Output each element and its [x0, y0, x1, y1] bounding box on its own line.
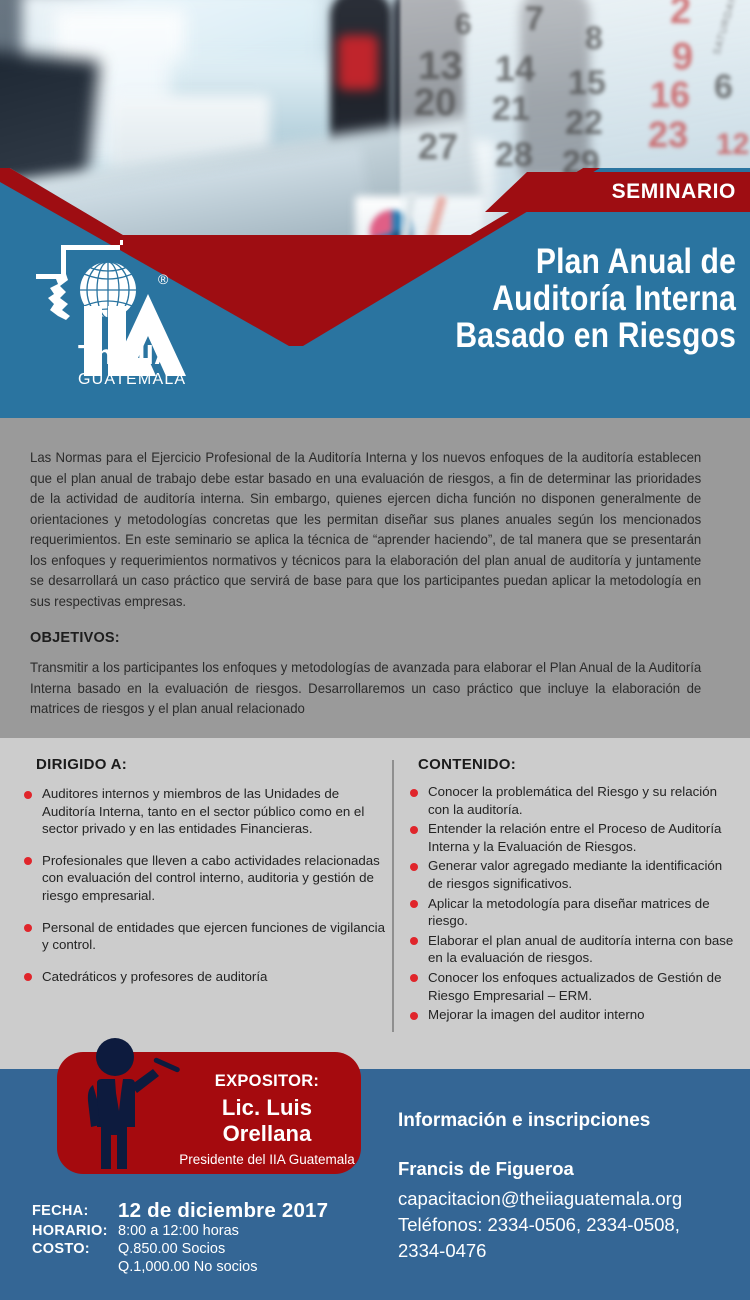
seminario-label: SEMINARIO — [612, 180, 736, 204]
list-item-text: Elaborar el plan anual de auditoría inte… — [428, 933, 733, 966]
title-line-1: Plan Anual de — [366, 243, 736, 280]
bullet-icon — [410, 826, 418, 834]
horario-value: 8:00 a 12:00 horas — [118, 1223, 239, 1239]
fecha-label: FECHA: — [32, 1203, 118, 1219]
horario-label: HORARIO: — [32, 1223, 118, 1239]
contenido-heading: CONTENIDO: — [408, 738, 738, 773]
list-item: Entender la relación entre el Proceso de… — [408, 820, 738, 855]
list-item: Aplicar la metodología para diseñar matr… — [408, 895, 738, 930]
intro-section: Las Normas para el Ejercicio Profesional… — [0, 418, 750, 738]
bullet-icon — [410, 974, 418, 982]
list-item-text: Conocer la problemática del Riesgo y su … — [428, 784, 717, 817]
iia-logo: ® The IIA GUATEMALA — [28, 232, 208, 400]
presenter-icon — [75, 1035, 183, 1175]
contact-name: Francis de Figueroa — [398, 1158, 743, 1180]
list-item-text: Aplicar la metodología para diseñar matr… — [428, 896, 710, 929]
list-item: Generar valor agregado mediante la ident… — [408, 857, 738, 892]
fecha-row: FECHA: 12 de diciembre 2017 — [32, 1197, 382, 1221]
bullet-icon — [24, 973, 32, 981]
expositor-role: Presidente del IIA Guatemala — [177, 1152, 357, 1167]
bullet-icon — [410, 900, 418, 908]
dirigido-list: Auditores internos y miembros de las Uni… — [22, 785, 392, 985]
bullet-icon — [24, 924, 32, 932]
list-item-text: Personal de entidades que ejercen funcio… — [42, 920, 385, 953]
flyer-title: Plan Anual de Auditoría Interna Basado e… — [306, 243, 736, 354]
objetivos-heading: OBJETIVOS: — [30, 630, 120, 646]
list-item-text: Catedráticos y profesores de auditoría — [42, 969, 267, 984]
bullet-icon — [410, 1012, 418, 1020]
list-item-text: Conocer los enfoques actualizados de Ges… — [428, 970, 721, 1003]
intro-paragraph: Las Normas para el Ejercicio Profesional… — [30, 448, 701, 612]
contact-phones: Teléfonos: 2334-0506, 2334-0508, — [398, 1212, 743, 1238]
horario-row: HORARIO: 8:00 a 12:00 horas — [32, 1223, 382, 1239]
expositor-badge: EXPOSITOR: Lic. Luis Orellana Presidente… — [57, 1052, 361, 1174]
lists-section: DIRIGIDO A: Auditores internos y miembro… — [0, 738, 750, 1069]
costo-label: COSTO: — [32, 1241, 118, 1257]
expositor-text: EXPOSITOR: Lic. Luis Orellana Presidente… — [177, 1072, 357, 1167]
bullet-icon — [24, 857, 32, 865]
dirigido-column: DIRIGIDO A: Auditores internos y miembro… — [22, 738, 392, 999]
event-details: FECHA: 12 de diciembre 2017 HORARIO: 8:0… — [32, 1197, 382, 1275]
list-item-text: Auditores internos y miembros de las Uni… — [42, 786, 364, 836]
contenido-list: Conocer la problemática del Riesgo y su … — [408, 783, 738, 1024]
expositor-name: Lic. Luis Orellana — [177, 1095, 357, 1147]
bullet-icon — [410, 789, 418, 797]
list-item: Profesionales que lleven a cabo activida… — [22, 852, 392, 905]
title-line-2: Auditoría Interna — [366, 280, 736, 317]
list-item: Elaborar el plan anual de auditoría inte… — [408, 932, 738, 967]
list-item: Catedráticos y profesores de auditoría — [22, 968, 392, 986]
registered-mark: ® — [158, 271, 169, 287]
costo-value-secondary: Q.1,000.00 No socios — [118, 1259, 382, 1275]
logo-line-2: GUATEMALA — [78, 371, 208, 389]
bullet-icon — [24, 791, 32, 799]
contact-heading: Información e inscripciones — [398, 1110, 743, 1132]
contact-block: Información e inscripciones Francis de F… — [398, 1110, 743, 1264]
costo-row: COSTO: Q.850.00 Socios — [32, 1241, 382, 1257]
list-item: Personal de entidades que ejercen funcio… — [22, 919, 392, 954]
list-item: Mejorar la imagen del auditor interno — [408, 1006, 738, 1024]
bullet-icon — [410, 863, 418, 871]
contenido-column: CONTENIDO: Conocer la problemática del R… — [408, 738, 738, 1026]
dirigido-heading: DIRIGIDO A: — [22, 738, 392, 773]
list-item: Conocer los enfoques actualizados de Ges… — [408, 969, 738, 1004]
contact-email[interactable]: capacitacion@theiiaguatemala.org — [398, 1186, 743, 1212]
objetivos-paragraph: Transmitir a los participantes los enfoq… — [30, 658, 701, 720]
seminario-banner: SEMINARIO — [485, 172, 750, 212]
costo-value: Q.850.00 Socios — [118, 1241, 225, 1257]
contact-phones-continued: 2334-0476 — [398, 1238, 743, 1264]
bullet-icon — [410, 937, 418, 945]
seminar-flyer: 6 7 2 13 14 8 9 20 21 15 16 6 27 22 23 2… — [0, 0, 750, 1300]
logo-line-1: The IIA — [78, 340, 208, 370]
column-divider — [392, 760, 394, 1032]
list-item-text: Entender la relación entre el Proceso de… — [428, 821, 721, 854]
list-item-text: Mejorar la imagen del auditor interno — [428, 1007, 645, 1022]
list-item-text: Profesionales que lleven a cabo activida… — [42, 853, 380, 903]
fecha-value: 12 de diciembre 2017 — [118, 1199, 328, 1223]
list-item: Conocer la problemática del Riesgo y su … — [408, 783, 738, 818]
title-line-3: Basado en Riesgos — [366, 317, 736, 354]
list-item-text: Generar valor agregado mediante la ident… — [428, 858, 722, 891]
expositor-label: EXPOSITOR: — [177, 1072, 357, 1091]
list-item: Auditores internos y miembros de las Uni… — [22, 785, 392, 838]
